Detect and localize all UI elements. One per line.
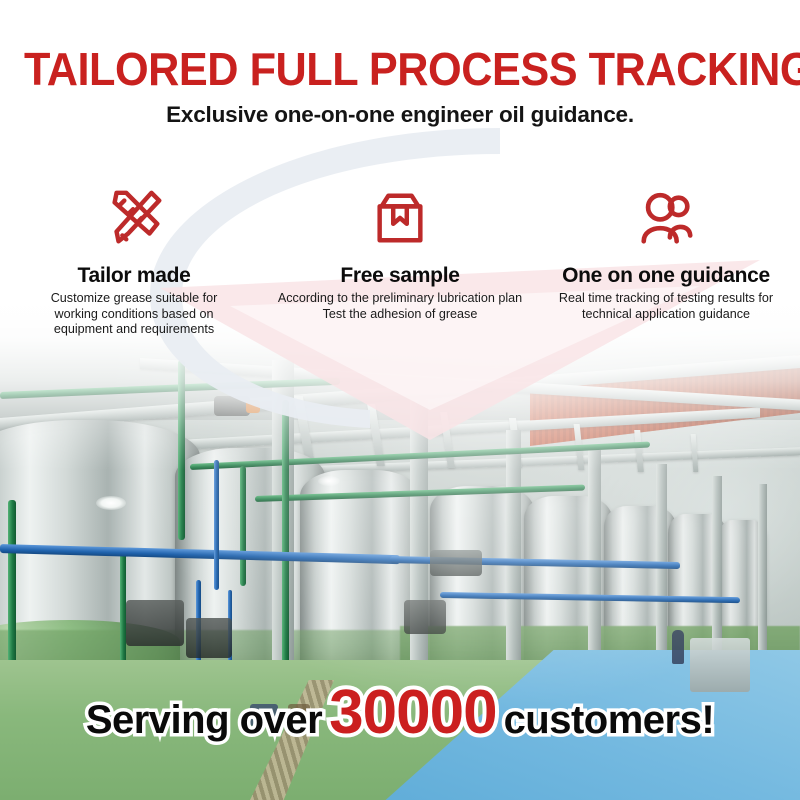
valve-cluster (404, 600, 446, 634)
blue-pipe-vertical (214, 460, 219, 590)
two-people-icon (537, 182, 795, 254)
feature-title: Free sample (271, 264, 529, 288)
feature-list: Tailor made Customize grease suitable fo… (0, 182, 800, 338)
green-pipe-vertical (282, 400, 289, 700)
feature-title: Tailor made (5, 264, 263, 288)
package-box-icon (271, 182, 529, 254)
valve-cluster (246, 400, 260, 413)
feature-free-sample: Free sample According to the preliminary… (267, 182, 533, 322)
worker-figure (672, 630, 684, 664)
feature-one-on-one-guidance: One on one guidance Real time tracking o… (533, 182, 799, 322)
valve-cluster (186, 618, 232, 658)
banner-customer-count: 30000 (329, 686, 496, 740)
green-pipe-vertical (240, 466, 246, 586)
feature-description: Real time tracking of testing results fo… (537, 291, 795, 322)
valve-cluster (214, 396, 250, 416)
page-subtitle: Exclusive one-on-one engineer oil guidan… (0, 102, 800, 128)
ceiling-lamp (96, 496, 126, 510)
promo-poster: TAILORED FULL PROCESS TRACKING Exclusive… (0, 0, 800, 800)
page-title: TAILORED FULL PROCESS TRACKING (24, 44, 776, 94)
floor-equipment (690, 638, 750, 692)
green-pipe-vertical (178, 360, 185, 540)
ceiling-lamp (318, 476, 340, 486)
valve-cluster (126, 600, 184, 646)
feature-description: Customize grease suitable for working co… (5, 291, 263, 338)
valve-cluster (430, 550, 482, 576)
banner-suffix: customers! (504, 693, 715, 747)
feature-description: According to the preliminary lubrication… (271, 291, 529, 322)
ruler-pencil-icon (5, 182, 263, 254)
customer-count-banner: Serving over 30000 customers! (0, 686, 800, 747)
banner-prefix: Serving over (86, 693, 322, 747)
feature-title: One on one guidance (537, 264, 795, 288)
headline-block: TAILORED FULL PROCESS TRACKING Exclusive… (0, 44, 800, 128)
feature-tailor-made: Tailor made Customize grease suitable fo… (1, 182, 267, 338)
